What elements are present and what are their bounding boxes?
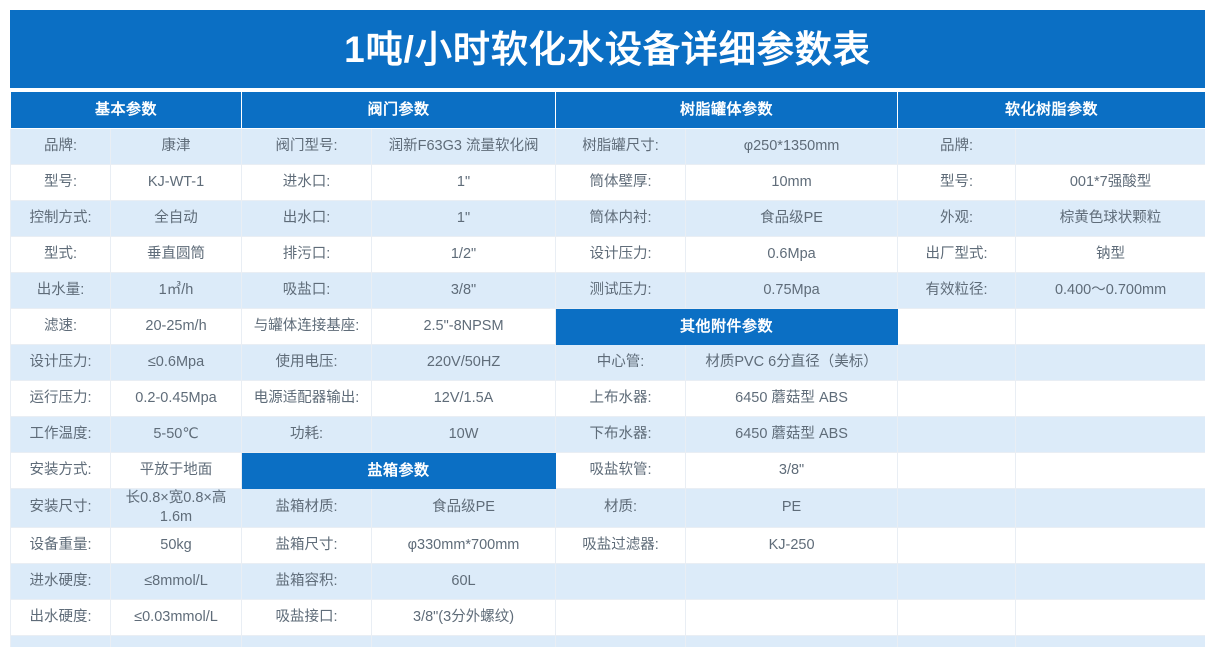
cell-value: 平放于地面 bbox=[111, 453, 242, 489]
cell-value: 1" bbox=[372, 201, 556, 237]
cell-empty bbox=[111, 635, 242, 647]
cell-empty bbox=[1016, 489, 1205, 528]
cell-empty bbox=[1016, 563, 1205, 599]
cell-value: 6450 蘑菇型 ABS bbox=[686, 417, 898, 453]
cell-label: 型号: bbox=[898, 165, 1016, 201]
cell-value: 0.75Mpa bbox=[686, 273, 898, 309]
cell-empty bbox=[898, 309, 1016, 345]
cell-value: PE bbox=[686, 489, 898, 528]
cell-empty bbox=[686, 635, 898, 647]
parameter-table: 基本参数 阀门参数 树脂罐体参数 软化树脂参数 品牌: 康津 阀门型号: 润新F… bbox=[10, 91, 1205, 647]
cell-label: 出水量: bbox=[11, 273, 111, 309]
group-header-softening-resin: 软化树脂参数 bbox=[898, 92, 1205, 129]
cell-value: 棕黄色球状颗粒 bbox=[1016, 201, 1205, 237]
section-header-salt-box: 盐箱参数 bbox=[242, 453, 556, 489]
table-row bbox=[11, 635, 1205, 647]
table-row: 安装方式: 平放于地面 盐箱参数 吸盐软管: 3/8" bbox=[11, 453, 1205, 489]
cell-label: 使用电压: bbox=[242, 345, 372, 381]
page-title: 1吨/小时软化水设备详细参数表 bbox=[344, 31, 871, 68]
cell-label: 工作温度: bbox=[11, 417, 111, 453]
table-row: 出水量: 1㎥/h 吸盐口: 3/8" 测试压力: 0.75Mpa 有效粒径: … bbox=[11, 273, 1205, 309]
cell-value: 5-50℃ bbox=[111, 417, 242, 453]
cell-label: 测试压力: bbox=[556, 273, 686, 309]
table-group-header-row: 基本参数 阀门参数 树脂罐体参数 软化树脂参数 bbox=[11, 92, 1205, 129]
cell-empty bbox=[898, 417, 1016, 453]
cell-label: 盐箱材质: bbox=[242, 489, 372, 528]
cell-value: 润新F63G3 流量软化阀 bbox=[372, 129, 556, 165]
cell-label: 安装尺寸: bbox=[11, 489, 111, 528]
flow-rate-value: 1㎥/h bbox=[159, 282, 194, 298]
cell-label: 控制方式: bbox=[11, 201, 111, 237]
cell-value: 0.400～0.700mm bbox=[1016, 273, 1205, 309]
cell-label: 型号: bbox=[11, 165, 111, 201]
cell-value: 3/8" bbox=[686, 453, 898, 489]
cell-value: 2.5"-8NPSM bbox=[372, 309, 556, 345]
cell-empty bbox=[1016, 381, 1205, 417]
cell-label: 有效粒径: bbox=[898, 273, 1016, 309]
table-row: 设备重量: 50kg 盐箱尺寸: φ330mm*700mm 吸盐过滤器: KJ-… bbox=[11, 527, 1205, 563]
table-row: 运行压力: 0.2-0.45Mpa 电源适配器输出: 12V/1.5A 上布水器… bbox=[11, 381, 1205, 417]
cell-empty bbox=[686, 563, 898, 599]
cell-label: 滤速: bbox=[11, 309, 111, 345]
cell-value: 食品级PE bbox=[686, 201, 898, 237]
cell-value: 0.6Mpa bbox=[686, 237, 898, 273]
cell-value: 60L bbox=[372, 563, 556, 599]
group-header-resin-tank: 树脂罐体参数 bbox=[556, 92, 898, 129]
cell-label: 吸盐口: bbox=[242, 273, 372, 309]
cell-empty bbox=[242, 635, 372, 647]
cell-label: 出水硬度: bbox=[11, 599, 111, 635]
cell-empty bbox=[1016, 345, 1205, 381]
table-row: 出水硬度: ≤0.03mmol/L 吸盐接口: 3/8"(3分外螺纹) bbox=[11, 599, 1205, 635]
cell-value: 50kg bbox=[111, 527, 242, 563]
cell-value: 10W bbox=[372, 417, 556, 453]
cell-label: 运行压力: bbox=[11, 381, 111, 417]
cell-label: 筒体内衬: bbox=[556, 201, 686, 237]
group-header-valve: 阀门参数 bbox=[242, 92, 556, 129]
cell-value: 1/2" bbox=[372, 237, 556, 273]
cell-empty bbox=[1016, 309, 1205, 345]
cell-label: 吸盐过滤器: bbox=[556, 527, 686, 563]
cell-value: 长0.8×宽0.8×高1.6m bbox=[111, 489, 242, 528]
cell-empty bbox=[372, 635, 556, 647]
cell-label: 型式: bbox=[11, 237, 111, 273]
cell-label: 出水口: bbox=[242, 201, 372, 237]
cell-label: 进水硬度: bbox=[11, 563, 111, 599]
cell-empty bbox=[1016, 417, 1205, 453]
cell-empty bbox=[556, 563, 686, 599]
cell-label: 筒体壁厚: bbox=[556, 165, 686, 201]
cell-empty bbox=[1016, 635, 1205, 647]
cell-empty bbox=[898, 345, 1016, 381]
cell-label: 树脂罐尺寸: bbox=[556, 129, 686, 165]
cell-label: 功耗: bbox=[242, 417, 372, 453]
cell-value: KJ-WT-1 bbox=[111, 165, 242, 201]
cell-label: 安装方式: bbox=[11, 453, 111, 489]
parameter-sheet: 1吨/小时软化水设备详细参数表 基本参数 阀门参数 树脂罐体参数 软化树脂参数 … bbox=[0, 0, 1205, 647]
cell-empty bbox=[898, 635, 1016, 647]
cell-empty bbox=[556, 599, 686, 635]
cell-label: 外观: bbox=[898, 201, 1016, 237]
cell-label: 电源适配器输出: bbox=[242, 381, 372, 417]
cell-value: ≤0.03mmol/L bbox=[111, 599, 242, 635]
cell-label: 设计压力: bbox=[556, 237, 686, 273]
cell-value bbox=[1016, 129, 1205, 165]
table-row: 品牌: 康津 阀门型号: 润新F63G3 流量软化阀 树脂罐尺寸: φ250*1… bbox=[11, 129, 1205, 165]
cell-empty bbox=[1016, 453, 1205, 489]
cell-empty bbox=[898, 381, 1016, 417]
cell-label: 中心管: bbox=[556, 345, 686, 381]
cell-value: 1㎥/h bbox=[111, 273, 242, 309]
table-row: 进水硬度: ≤8mmol/L 盐箱容积: 60L bbox=[11, 563, 1205, 599]
cell-value: φ330mm*700mm bbox=[372, 527, 556, 563]
group-header-basic: 基本参数 bbox=[11, 92, 242, 129]
cell-value: 垂直圆筒 bbox=[111, 237, 242, 273]
cell-label: 进水口: bbox=[242, 165, 372, 201]
cell-label: 材质: bbox=[556, 489, 686, 528]
cell-value: ≤0.6Mpa bbox=[111, 345, 242, 381]
cell-empty bbox=[898, 489, 1016, 528]
cell-value: 10mm bbox=[686, 165, 898, 201]
cell-value: 6450 蘑菇型 ABS bbox=[686, 381, 898, 417]
table-row: 型号: KJ-WT-1 进水口: 1" 筒体壁厚: 10mm 型号: 001*7… bbox=[11, 165, 1205, 201]
cell-value: KJ-250 bbox=[686, 527, 898, 563]
cell-empty bbox=[898, 527, 1016, 563]
cell-empty bbox=[1016, 599, 1205, 635]
cell-value: 220V/50HZ bbox=[372, 345, 556, 381]
cell-label: 吸盐接口: bbox=[242, 599, 372, 635]
section-header-other-accessories: 其他附件参数 bbox=[556, 309, 898, 345]
cell-value: 材质PVC 6分直径（美标） bbox=[686, 345, 898, 381]
cell-label: 吸盐软管: bbox=[556, 453, 686, 489]
cell-label: 上布水器: bbox=[556, 381, 686, 417]
cell-value: 康津 bbox=[111, 129, 242, 165]
page-title-banner: 1吨/小时软化水设备详细参数表 bbox=[10, 10, 1205, 88]
cell-label: 设计压力: bbox=[11, 345, 111, 381]
cell-label: 品牌: bbox=[898, 129, 1016, 165]
cell-empty bbox=[686, 599, 898, 635]
cell-value: 0.2-0.45Mpa bbox=[111, 381, 242, 417]
cell-value: 全自动 bbox=[111, 201, 242, 237]
cell-empty bbox=[556, 635, 686, 647]
cell-label: 排污口: bbox=[242, 237, 372, 273]
cell-value: 1" bbox=[372, 165, 556, 201]
cell-label: 阀门型号: bbox=[242, 129, 372, 165]
cell-empty bbox=[898, 599, 1016, 635]
cell-value: 食品级PE bbox=[372, 489, 556, 528]
cell-label: 品牌: bbox=[11, 129, 111, 165]
cell-label: 设备重量: bbox=[11, 527, 111, 563]
table-row: 安装尺寸: 长0.8×宽0.8×高1.6m 盐箱材质: 食品级PE 材质: PE bbox=[11, 489, 1205, 528]
cell-value: φ250*1350mm bbox=[686, 129, 898, 165]
table-row: 工作温度: 5-50℃ 功耗: 10W 下布水器: 6450 蘑菇型 ABS bbox=[11, 417, 1205, 453]
cell-label: 盐箱容积: bbox=[242, 563, 372, 599]
table-row: 设计压力: ≤0.6Mpa 使用电压: 220V/50HZ 中心管: 材质PVC… bbox=[11, 345, 1205, 381]
cell-value: 20-25m/h bbox=[111, 309, 242, 345]
cell-label: 盐箱尺寸: bbox=[242, 527, 372, 563]
cell-empty bbox=[898, 563, 1016, 599]
cell-empty bbox=[898, 453, 1016, 489]
cell-value: ≤8mmol/L bbox=[111, 563, 242, 599]
cell-value: 3/8"(3分外螺纹) bbox=[372, 599, 556, 635]
cell-value: 钠型 bbox=[1016, 237, 1205, 273]
table-row: 型式: 垂直圆筒 排污口: 1/2" 设计压力: 0.6Mpa 出厂型式: 钠型 bbox=[11, 237, 1205, 273]
table-row: 控制方式: 全自动 出水口: 1" 筒体内衬: 食品级PE 外观: 棕黄色球状颗… bbox=[11, 201, 1205, 237]
cell-value: 3/8" bbox=[372, 273, 556, 309]
cell-value: 12V/1.5A bbox=[372, 381, 556, 417]
cell-label: 下布水器: bbox=[556, 417, 686, 453]
cell-empty bbox=[1016, 527, 1205, 563]
cell-label: 与罐体连接基座: bbox=[242, 309, 372, 345]
cell-empty bbox=[11, 635, 111, 647]
cell-value: 001*7强酸型 bbox=[1016, 165, 1205, 201]
table-row: 滤速: 20-25m/h 与罐体连接基座: 2.5"-8NPSM 其他附件参数 bbox=[11, 309, 1205, 345]
cell-label: 出厂型式: bbox=[898, 237, 1016, 273]
